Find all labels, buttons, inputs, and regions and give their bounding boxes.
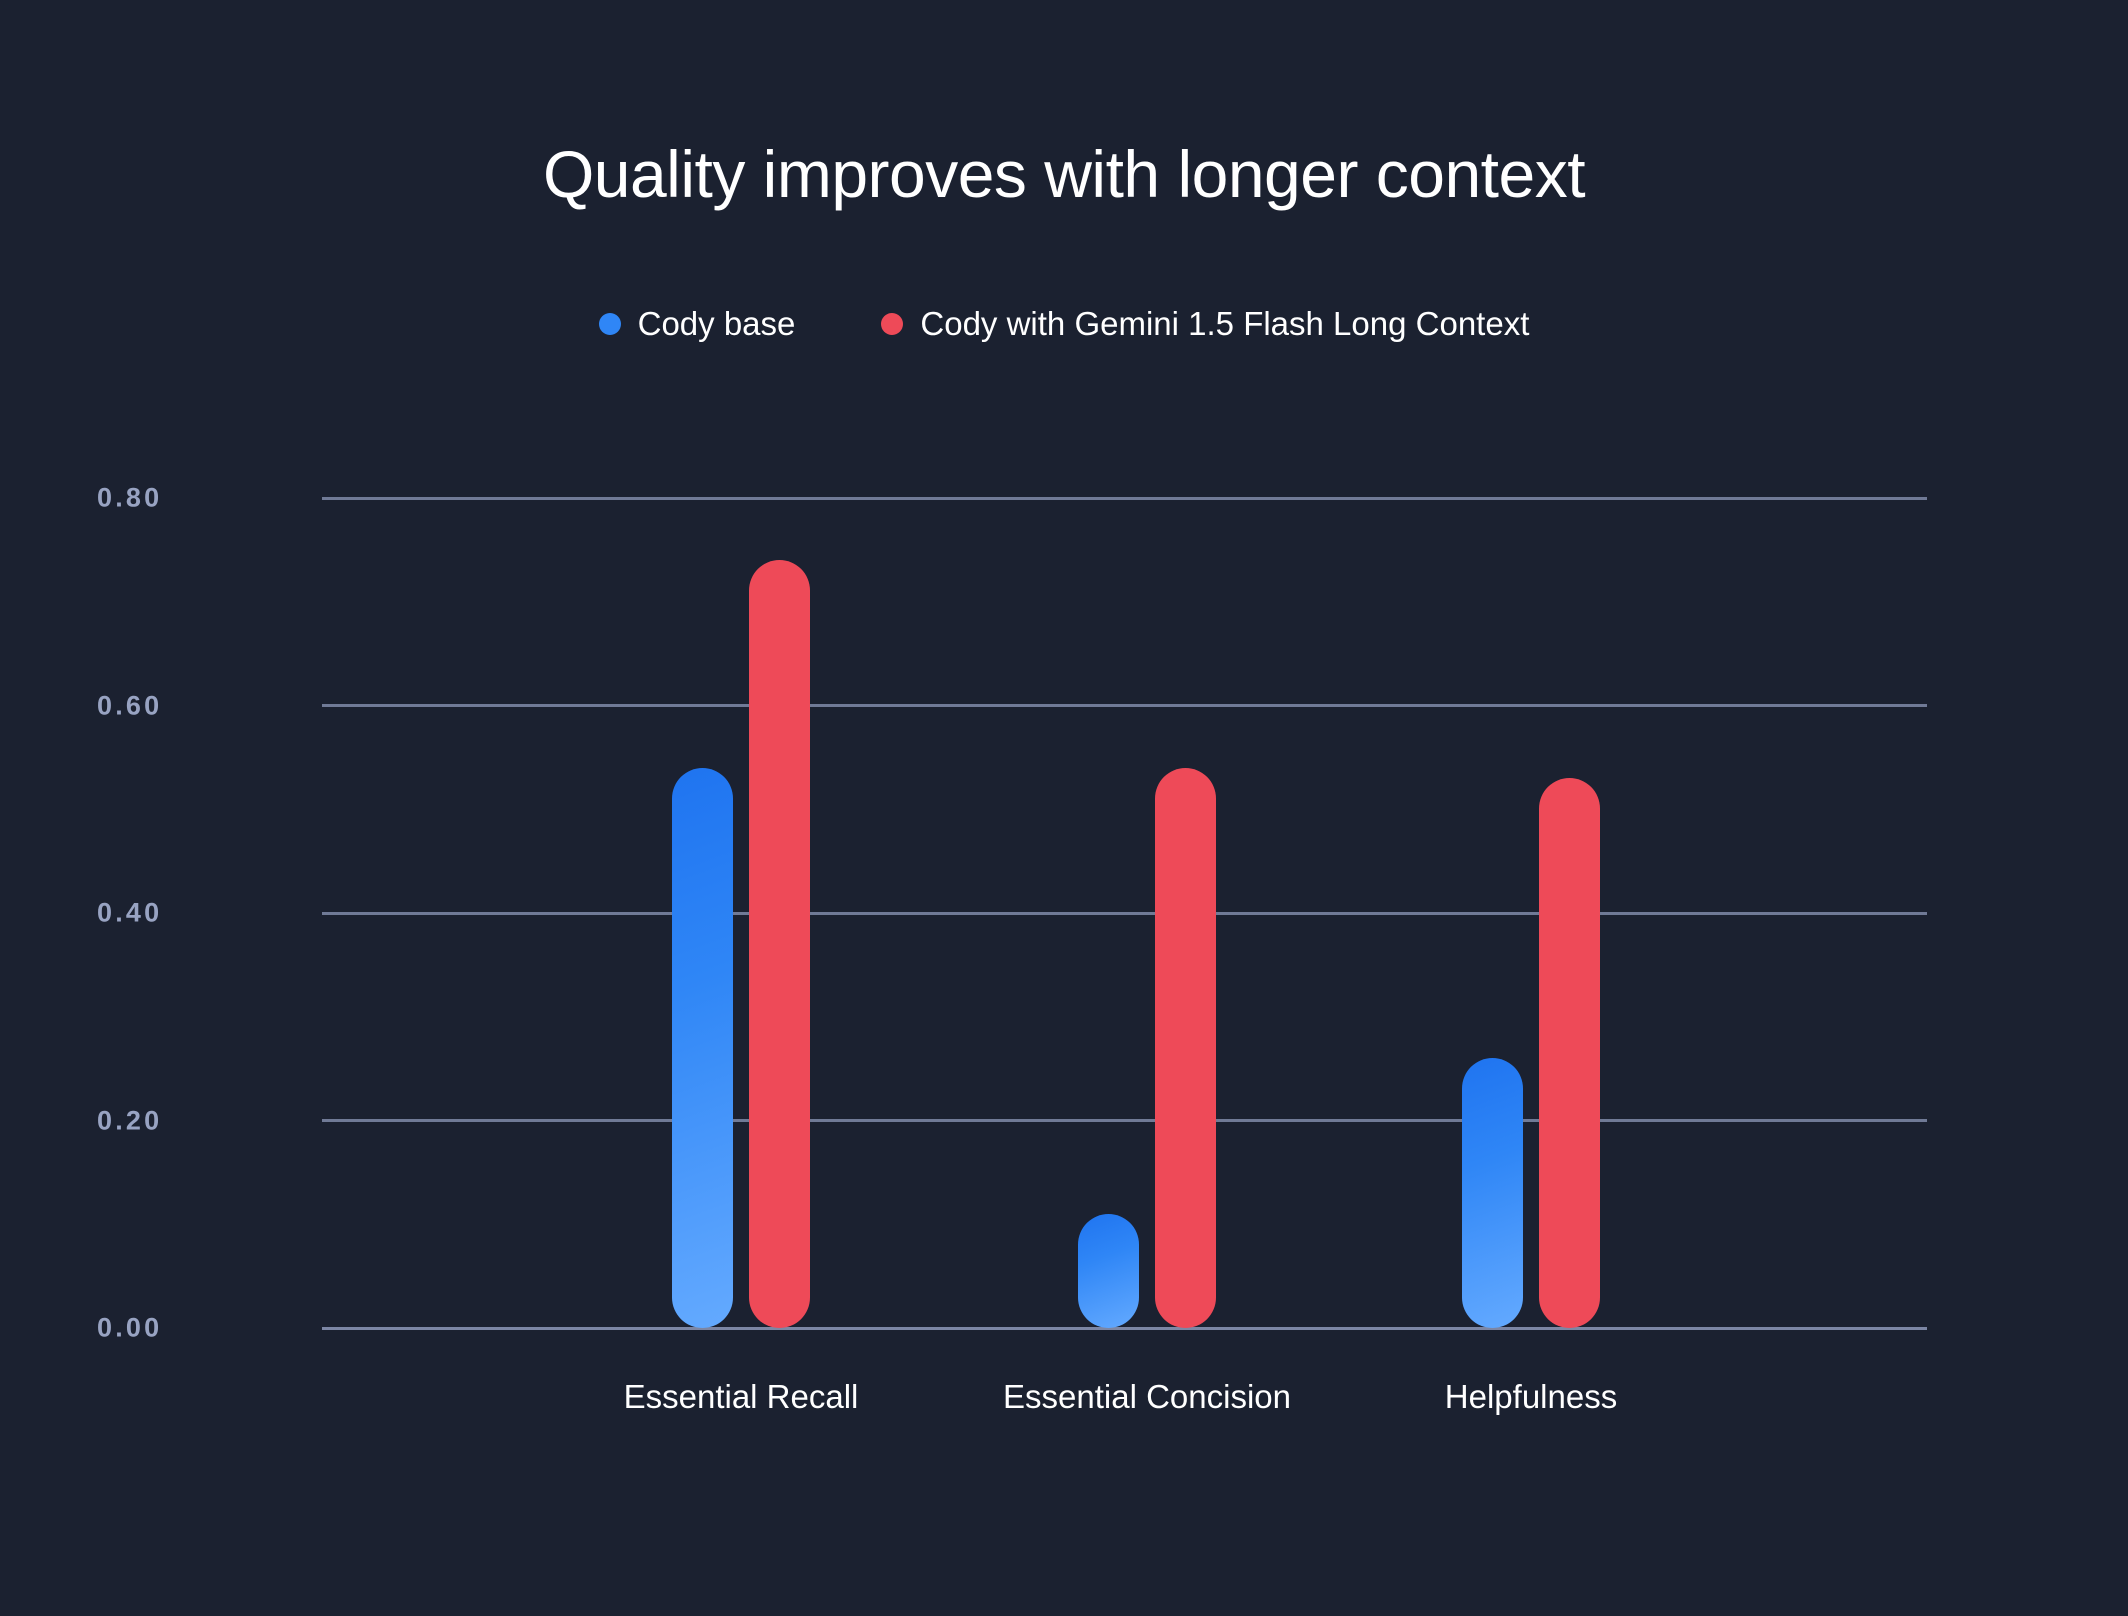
y-axis-tick-label: 0.20: [97, 1105, 277, 1136]
bar-cody-base-1[interactable]: [1078, 1214, 1139, 1328]
x-axis-tick-label: Essential Concision: [1003, 1378, 1291, 1416]
y-axis-tick-label: 0.40: [97, 898, 277, 929]
legend-item-cody-gemini-long-context[interactable]: Cody with Gemini 1.5 Flash Long Context: [881, 307, 1529, 340]
legend-dot-icon: [599, 313, 621, 335]
legend-item-label: Cody base: [638, 307, 796, 340]
gridline: [322, 704, 1927, 707]
gridline: [322, 1119, 1927, 1122]
legend-item-cody-base[interactable]: Cody base: [599, 307, 796, 340]
y-axis-tick-label: 0.60: [97, 690, 277, 721]
legend-item-label: Cody with Gemini 1.5 Flash Long Context: [920, 307, 1529, 340]
gridline: [322, 1327, 1927, 1330]
x-axis-tick-label: Essential Recall: [624, 1378, 859, 1416]
y-axis-tick-label: 0.00: [97, 1313, 277, 1344]
x-axis-tick-label: Helpfulness: [1445, 1378, 1617, 1416]
gridline: [322, 912, 1927, 915]
bar-cody-base-0[interactable]: [672, 768, 733, 1328]
bar-cody-gemini-1[interactable]: [1155, 768, 1216, 1328]
legend-dot-icon: [881, 313, 903, 335]
chart-title: Quality improves with longer context: [0, 138, 2128, 211]
chart-container: Quality improves with longer context Cod…: [0, 0, 2128, 1616]
bar-cody-base-2[interactable]: [1462, 1058, 1523, 1328]
gridline: [322, 497, 1927, 500]
bar-cody-gemini-2[interactable]: [1539, 778, 1600, 1328]
plot-area: 0.800.600.400.200.00Essential RecallEsse…: [322, 498, 1927, 1328]
y-axis-tick-label: 0.80: [97, 483, 277, 514]
chart-legend: Cody base Cody with Gemini 1.5 Flash Lon…: [0, 307, 2128, 340]
bar-cody-gemini-0[interactable]: [749, 560, 810, 1328]
